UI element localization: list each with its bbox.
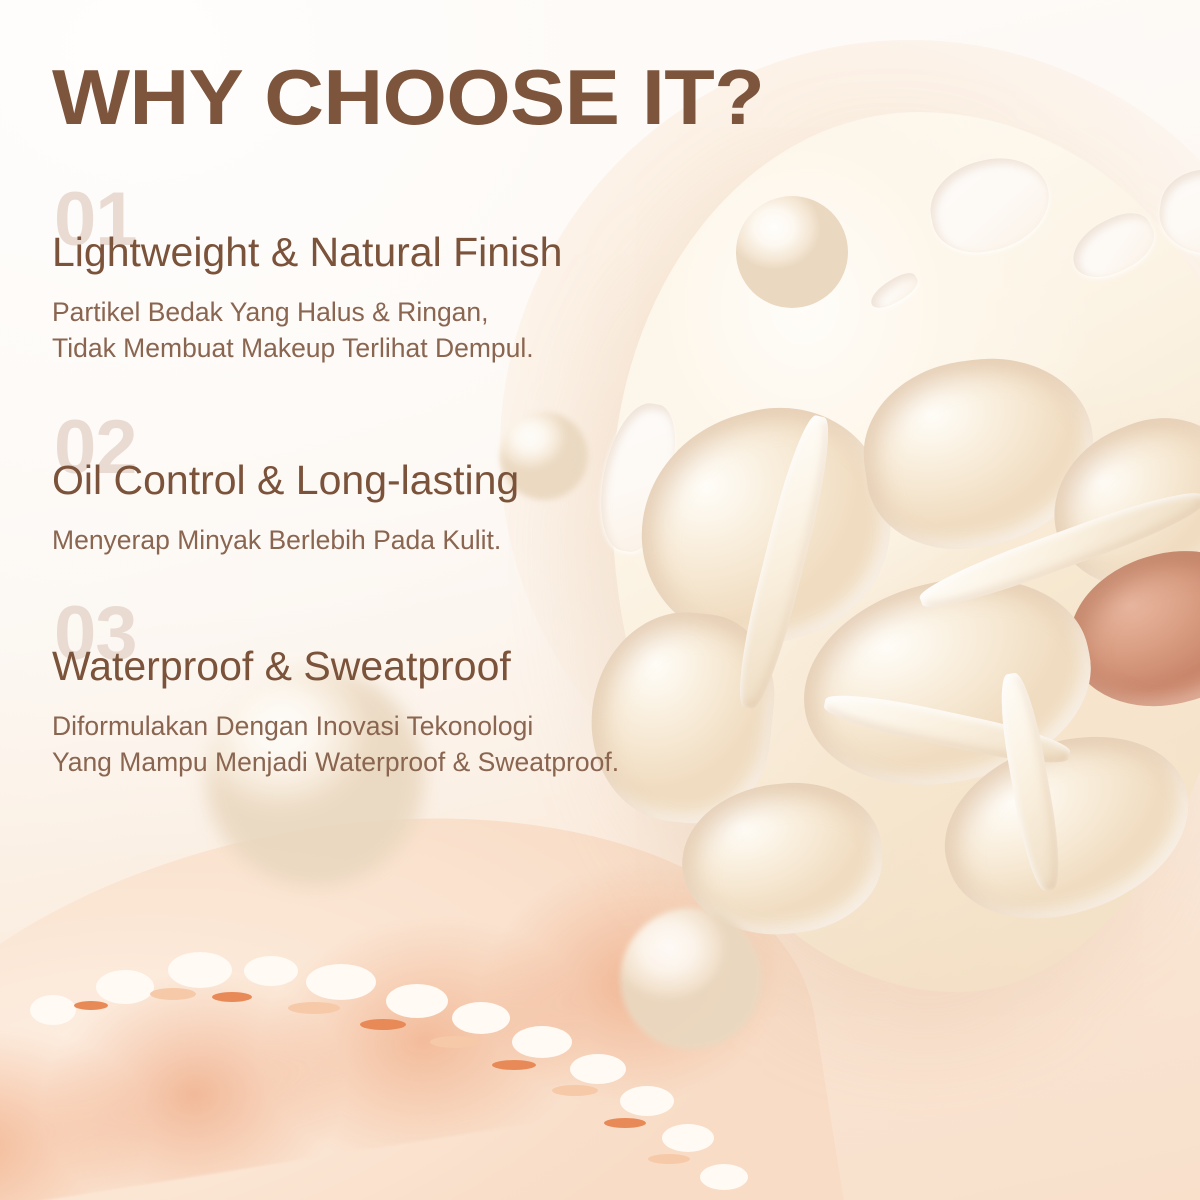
feature-heading-3: Waterproof & Sweatproof — [52, 644, 619, 690]
feature-heading-2: Oil Control & Long-lasting — [52, 458, 519, 504]
feature-body-2: Menyerap Minyak Berlebih Pada Kulit. — [52, 522, 519, 559]
feature-body-3: Diformulakan Dengan Inovasi Tekonologi Y… — [52, 708, 619, 781]
feature-item-2: 02 Oil Control & Long-lasting Menyerap M… — [52, 418, 519, 558]
content-layer: WHY CHOOSE IT? 01 Lightweight & Natural … — [0, 0, 1200, 1200]
page-title: WHY CHOOSE IT? — [52, 58, 764, 136]
poster-canvas: WHY CHOOSE IT? 01 Lightweight & Natural … — [0, 0, 1200, 1200]
feature-item-1: 01 Lightweight & Natural Finish Partikel… — [52, 190, 562, 367]
feature-body-1: Partikel Bedak Yang Halus & Ringan, Tida… — [52, 294, 562, 367]
feature-item-3: 03 Waterproof & Sweatproof Diformulakan … — [52, 604, 619, 781]
feature-heading-1: Lightweight & Natural Finish — [52, 230, 562, 276]
